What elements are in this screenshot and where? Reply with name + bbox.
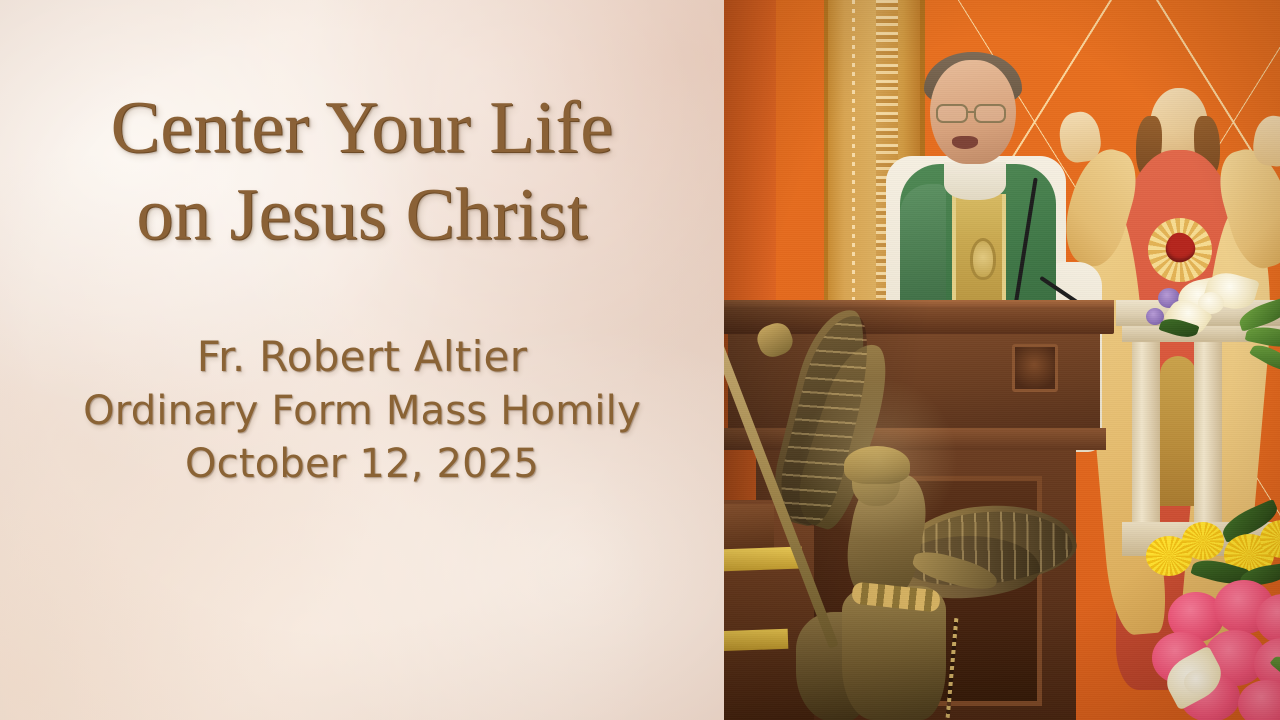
title-line-2: on Jesus Christ — [0, 172, 724, 259]
priest-collar — [944, 162, 1006, 200]
angel-helmet — [844, 446, 910, 484]
homily-title-slide: Center Your Life on Jesus Christ Fr. Rob… — [0, 0, 1280, 720]
eyeglass-lens-left — [936, 104, 968, 123]
event-name: Ordinary Form Mass Homily — [0, 385, 724, 438]
speaker-name: Fr. Robert Altier — [0, 330, 724, 385]
angel-chain — [946, 618, 959, 718]
sanctuary-photo — [724, 0, 1280, 720]
text-stack: Center Your Life on Jesus Christ Fr. Rob… — [0, 0, 724, 720]
title-line-1: Center Your Life — [0, 85, 724, 172]
lily-center — [1184, 670, 1212, 694]
yellow-chrysanthemum — [1182, 522, 1224, 560]
homily-date: October 12, 2025 — [0, 438, 724, 491]
orphrey-motif — [970, 238, 996, 280]
angel-sword-hilt — [754, 319, 797, 361]
saint-michael-statue — [744, 300, 1064, 720]
title-panel: Center Your Life on Jesus Christ Fr. Rob… — [0, 0, 724, 720]
eyeglass-lens-right — [974, 104, 1006, 123]
priest-mouth — [952, 136, 978, 149]
chasuble-orphrey — [952, 194, 1006, 314]
page-title: Center Your Life on Jesus Christ — [0, 85, 724, 258]
subtitle-block: Fr. Robert Altier Ordinary Form Mass Hom… — [0, 330, 724, 490]
pink-carnation — [1238, 680, 1280, 720]
